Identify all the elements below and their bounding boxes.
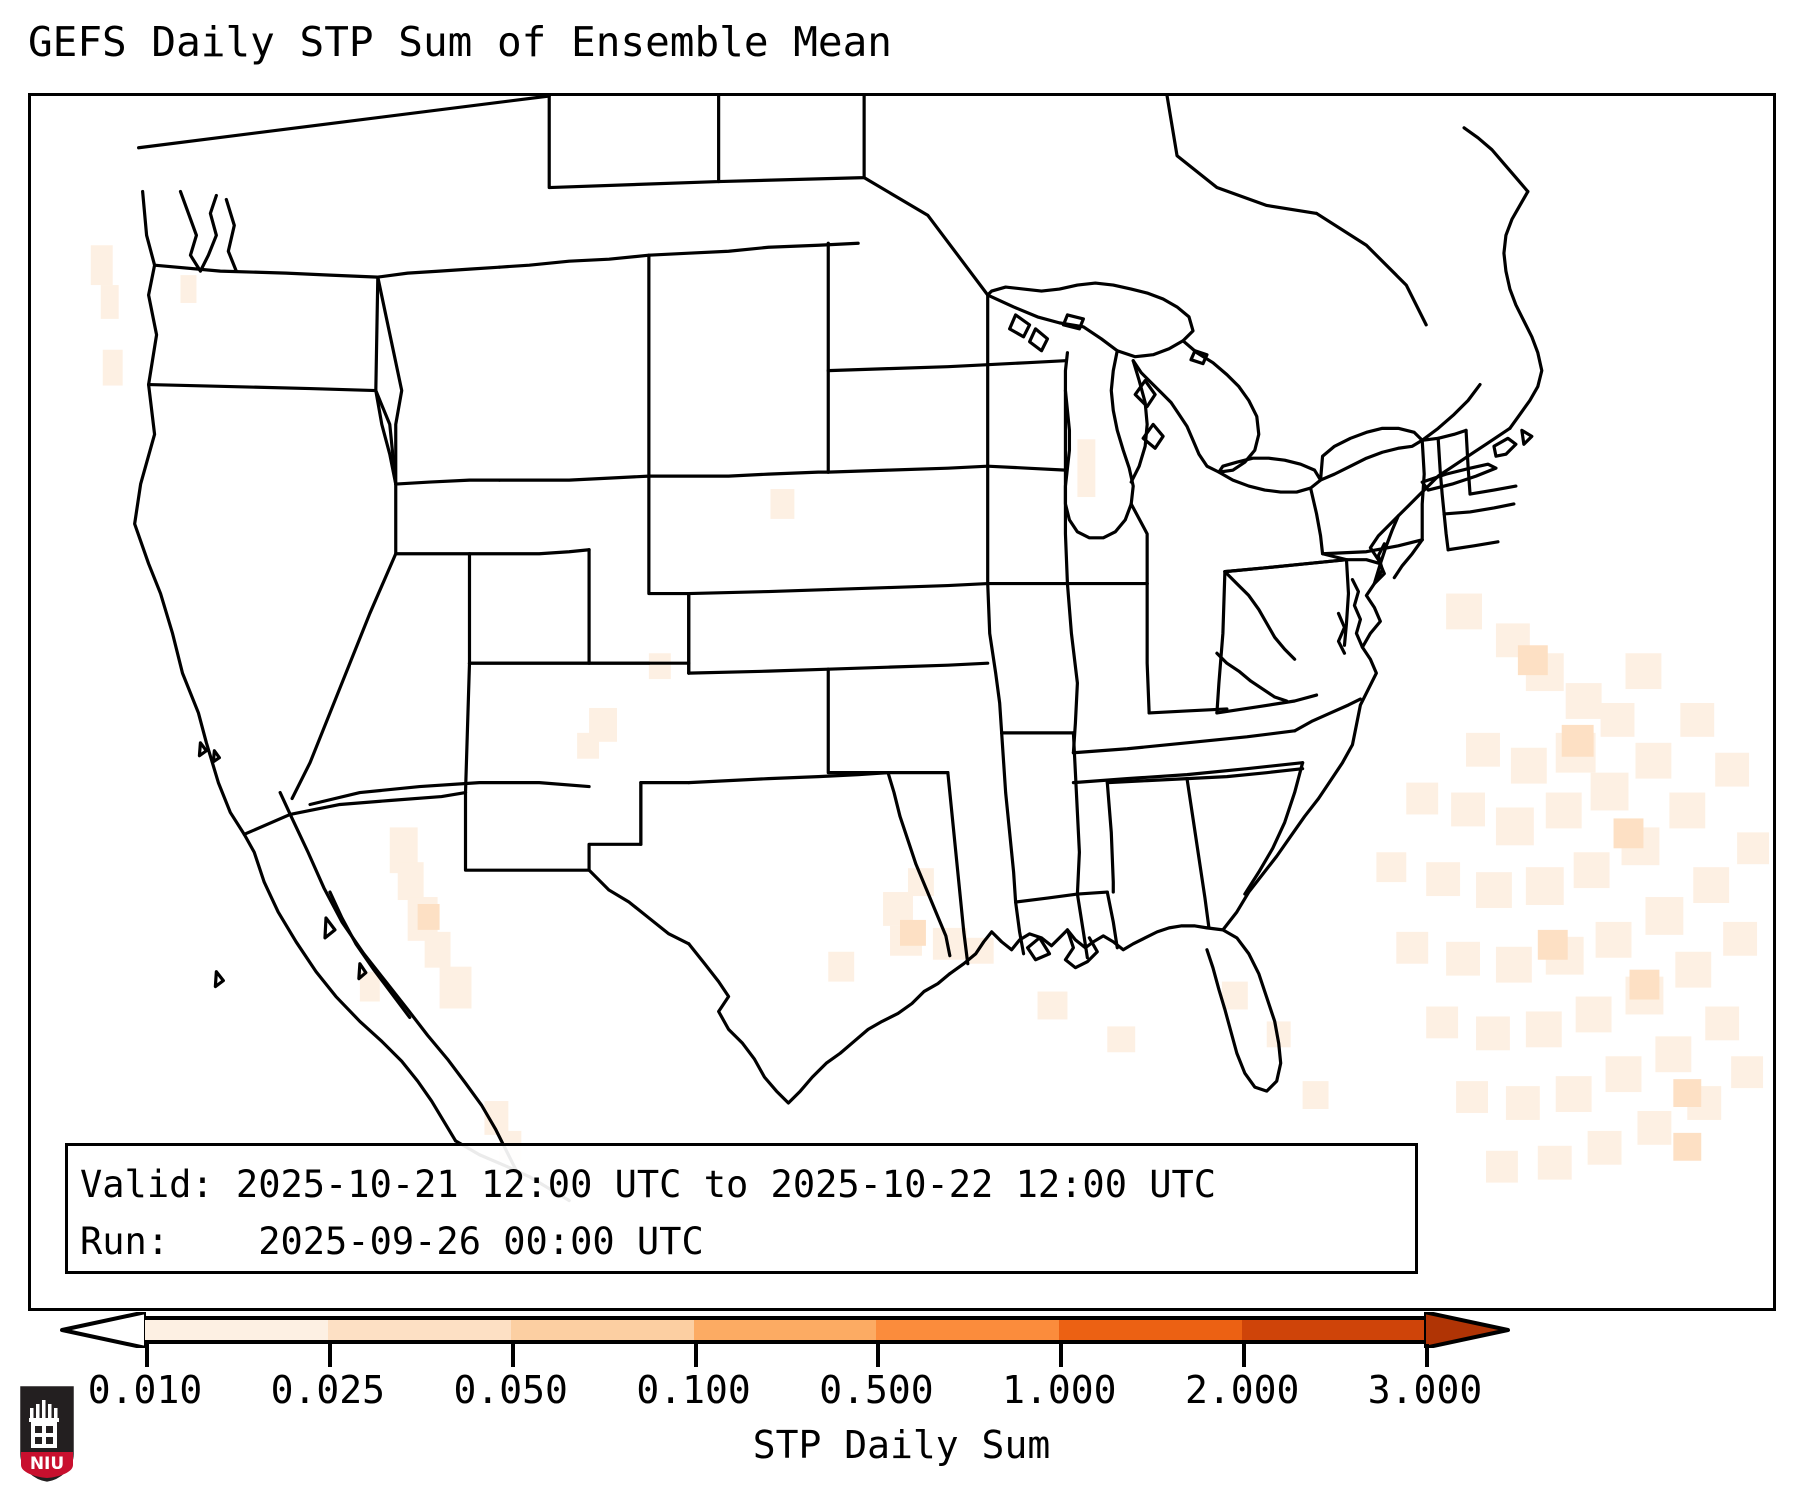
valid-time-line: Valid: 2025-10-21 12:00 UTC to 2025-10-2… <box>80 1156 1415 1213</box>
colorbar-tick-7 <box>1425 1344 1429 1367</box>
page-title: GEFS Daily STP Sum of Ensemble Mean <box>28 18 892 66</box>
colorbar-tick-label-1: 0.025 <box>271 1367 385 1413</box>
colorbar-axis-label: STP Daily Sum <box>0 1422 1803 1468</box>
colorbar-band-6 <box>1242 1320 1425 1340</box>
colorbar-tick-label-0: 0.010 <box>88 1367 202 1413</box>
colorbar-band-3 <box>694 1320 877 1340</box>
colorbar-tick-1 <box>328 1344 332 1367</box>
map-inner <box>31 96 1773 1308</box>
colorbar-tick-labels: 0.0100.0250.0500.1000.5001.0002.0003.000 <box>0 1367 1803 1417</box>
colorbar-tick-label-3: 0.100 <box>636 1367 750 1413</box>
conus-map-frame[interactable] <box>28 93 1776 1311</box>
colorbar-band-2 <box>511 1320 694 1340</box>
colorbar-bands <box>145 1316 1425 1344</box>
niu-banner-text: NIU <box>30 1454 64 1474</box>
colorbar-tick-0 <box>145 1344 149 1367</box>
colorbar-band-5 <box>1059 1320 1242 1340</box>
colorbar-tick-label-6: 2.000 <box>1185 1367 1299 1413</box>
colorbar-band-1 <box>328 1320 511 1340</box>
colorbar-tick-3 <box>694 1344 698 1367</box>
colorbar-over-arrow <box>1424 1312 1510 1348</box>
geography-layer <box>31 96 1773 1308</box>
colorbar-band-4 <box>876 1320 1059 1340</box>
colorbar-tick-label-5: 1.000 <box>1002 1367 1116 1413</box>
colorbar-tick-label-4: 0.500 <box>819 1367 933 1413</box>
colorbar-tick-label-2: 0.050 <box>454 1367 568 1413</box>
run-time-line: Run: 2025-09-26 00:00 UTC <box>80 1213 1415 1270</box>
colorbar-tick-6 <box>1242 1344 1246 1367</box>
forecast-info-box: Valid: 2025-10-21 12:00 UTC to 2025-10-2… <box>65 1143 1418 1274</box>
colorbar-tick-5 <box>1059 1344 1063 1367</box>
colorbar-band-0 <box>145 1320 328 1340</box>
colorbar-tick-4 <box>876 1344 880 1367</box>
figure-root: GEFS Daily STP Sum of Ensemble Mean <box>0 0 1803 1500</box>
colorbar-tick-2 <box>511 1344 515 1367</box>
colorbar-tick-label-7: 3.000 <box>1368 1367 1482 1413</box>
colorbar-under-arrow <box>60 1312 146 1348</box>
niu-logo[interactable]: NIU <box>16 1382 78 1486</box>
